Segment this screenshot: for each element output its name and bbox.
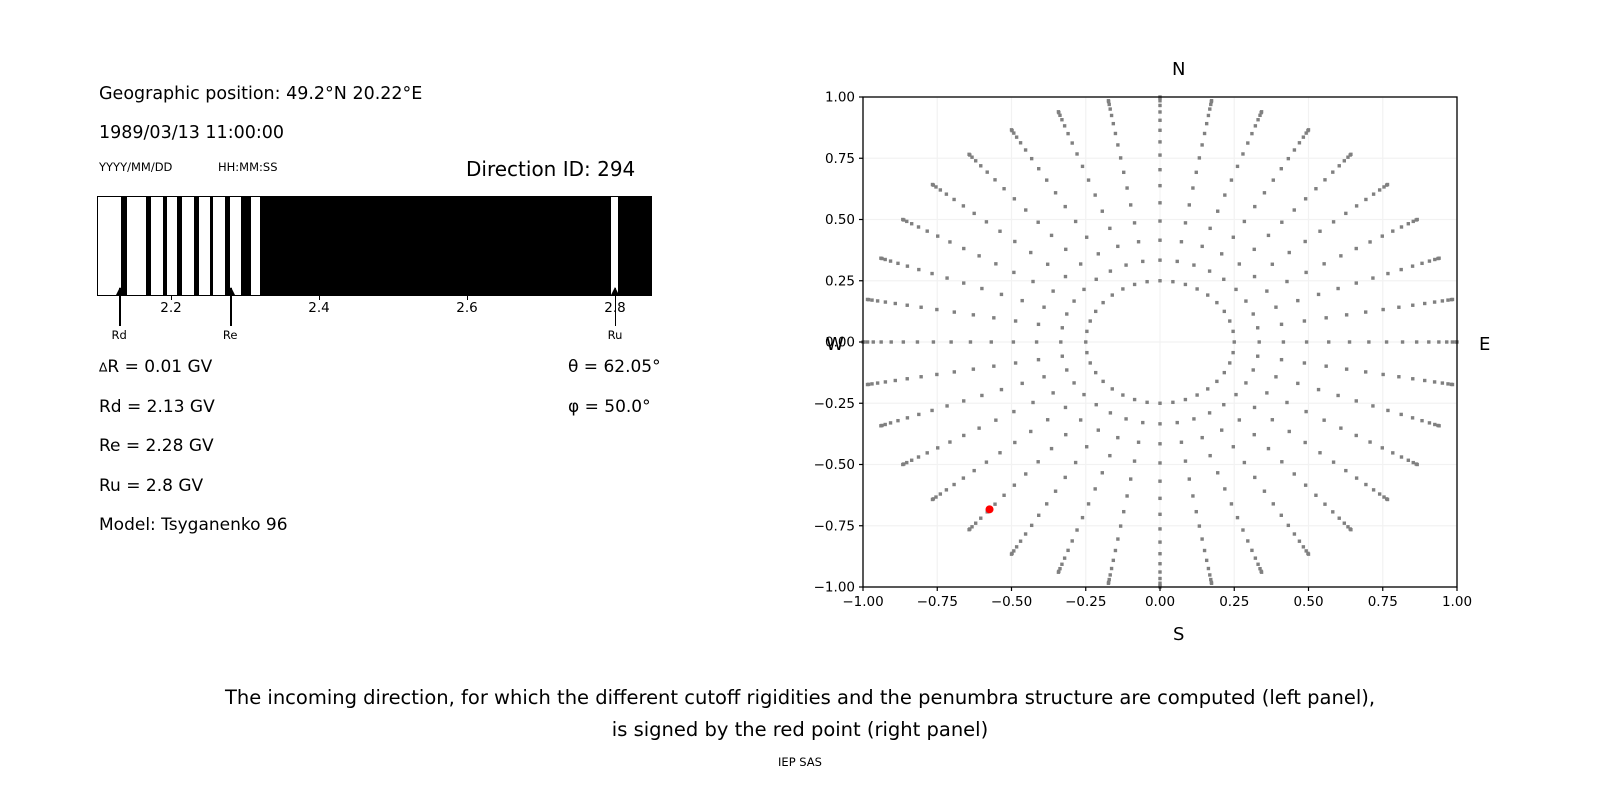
scatter-point <box>1267 447 1270 450</box>
geographic-position-text: Geographic position: 49.2°N 20.22°E <box>99 84 422 104</box>
scatter-point <box>1372 488 1375 491</box>
scatter-point <box>1158 119 1161 122</box>
scatter-point <box>879 424 882 427</box>
scatter-point <box>1158 552 1161 555</box>
scatter-point <box>1265 391 1268 394</box>
scatter-point <box>1253 275 1256 278</box>
scatter-point <box>1101 210 1104 213</box>
scatter-point <box>1416 218 1419 221</box>
y-tick-label: 0.50 <box>825 212 855 228</box>
scatter-point <box>935 373 938 376</box>
scatter-point <box>1065 368 1068 371</box>
scatter-point <box>979 164 982 167</box>
scatter-point <box>1111 293 1114 296</box>
scatter-point <box>1057 571 1060 574</box>
scatter-point <box>1158 540 1161 543</box>
scatter-point <box>1241 152 1244 155</box>
scatter-point <box>1037 514 1040 517</box>
scatter-point <box>1323 178 1326 181</box>
scatter-point <box>1036 221 1039 224</box>
scatter-point <box>1158 201 1161 204</box>
scatter-point <box>1250 132 1253 135</box>
scatter-point <box>1331 170 1334 173</box>
scatter-point <box>1303 240 1306 243</box>
scatter-point <box>1082 393 1085 396</box>
scatter-point <box>1241 528 1244 531</box>
scatter-point <box>1232 445 1235 448</box>
scatter-point <box>1021 382 1024 385</box>
figure-caption: The incoming direction, for which the di… <box>0 682 1600 746</box>
scatter-point <box>1344 212 1347 215</box>
scatter-point <box>1158 442 1161 445</box>
scatter-point <box>998 451 1001 454</box>
scatter-point <box>1208 454 1211 457</box>
scatter-point <box>1371 404 1374 407</box>
scatter-point <box>1158 110 1161 113</box>
scatter-point <box>1428 259 1431 262</box>
scatter-point <box>917 455 920 458</box>
scatter-point <box>894 302 897 305</box>
scatter-point <box>1451 298 1454 301</box>
scatter-point <box>1274 375 1277 378</box>
scatter-point <box>1367 340 1370 343</box>
scatter-point <box>1420 262 1423 265</box>
scatter-point <box>1230 502 1233 505</box>
scatter-point <box>990 340 993 343</box>
scatter-point <box>1433 258 1436 261</box>
scatter-point <box>931 498 934 501</box>
scatter-point <box>1287 157 1290 160</box>
scatter-point <box>1108 227 1111 230</box>
scatter-point <box>1195 510 1198 513</box>
caption-line-2: is signed by the red point (right panel) <box>0 714 1600 746</box>
scatter-point <box>1345 313 1348 316</box>
scatter-point <box>1158 527 1161 530</box>
scatter-point <box>1258 340 1261 343</box>
scatter-point <box>1094 371 1097 374</box>
scatter-point <box>1336 394 1339 397</box>
scatter-point <box>992 364 995 367</box>
scatter-point <box>1188 203 1191 206</box>
scatter-point <box>972 469 975 472</box>
scatter-point <box>1371 276 1374 279</box>
x-tick-label: 0.75 <box>1368 594 1398 610</box>
scatter-point <box>1215 380 1218 383</box>
scatter-point <box>1272 178 1275 181</box>
scatter-point <box>1385 340 1388 343</box>
scatter-point <box>906 264 909 267</box>
scatter-point <box>1192 417 1195 420</box>
direction-label-south: S <box>1173 624 1184 645</box>
scatter-point <box>1256 563 1259 566</box>
scatter-point <box>1097 252 1100 255</box>
scatter-point <box>1057 110 1060 113</box>
scatter-point <box>1111 387 1114 390</box>
scatter-point <box>876 381 879 384</box>
scatter-point <box>936 446 939 449</box>
scatter-point <box>1125 186 1128 189</box>
scatter-point <box>916 340 919 343</box>
scatter-point <box>962 399 965 402</box>
scatter-point <box>952 198 955 201</box>
scatter-point <box>879 257 882 260</box>
scatter-point <box>1158 153 1161 156</box>
scatter-point <box>1059 340 1062 343</box>
scatter-point <box>998 230 1001 233</box>
scatter-point <box>939 492 942 495</box>
scatter-point <box>1205 559 1208 562</box>
scatter-point <box>1223 193 1226 196</box>
scatter-point <box>1400 455 1403 458</box>
scatter-point <box>972 313 975 316</box>
scatter-point <box>945 276 948 279</box>
scatter-point <box>1298 141 1301 144</box>
scatter-point <box>1195 287 1198 290</box>
scatter-point <box>1112 559 1115 562</box>
scatter-point <box>1061 326 1064 329</box>
scatter-point <box>1030 157 1033 160</box>
scatter-point <box>1391 229 1394 232</box>
scatter-point <box>1015 545 1018 548</box>
scatter-point <box>1339 426 1342 429</box>
scatter-point <box>1158 577 1161 580</box>
y-tick-label: 1.00 <box>825 90 855 106</box>
scatter-point <box>1332 220 1335 223</box>
scatter-point <box>1158 513 1161 516</box>
scatter-point <box>1280 167 1283 170</box>
scatter-point <box>1119 524 1122 527</box>
scatter-point <box>1223 371 1226 374</box>
scatter-point <box>967 153 970 156</box>
scatter-point <box>1378 492 1381 495</box>
scatter-point <box>1280 221 1283 224</box>
scatter-point <box>1207 567 1210 570</box>
scatter-point <box>1029 251 1032 254</box>
scatter-point <box>1158 279 1161 282</box>
scatter-point <box>1060 563 1063 566</box>
scatter-point <box>1230 178 1233 181</box>
scatter-point <box>1066 132 1069 135</box>
scatter-point <box>979 517 982 520</box>
scatter-point <box>1303 441 1306 444</box>
scatter-point <box>1427 340 1430 343</box>
scatter-point <box>917 413 920 416</box>
footer-credit: IEP SAS <box>0 755 1600 769</box>
scatter-point <box>1303 319 1306 322</box>
scatter-point <box>1282 340 1285 343</box>
scatter-point <box>889 421 892 424</box>
scatter-point <box>1428 421 1431 424</box>
scatter-point <box>1345 367 1348 370</box>
scatter-point <box>1246 141 1249 144</box>
scatter-point <box>1171 401 1174 404</box>
scatter-point <box>1263 490 1266 493</box>
direction-label-east: E <box>1479 334 1490 355</box>
scatter-point <box>1191 186 1194 189</box>
scatter-point <box>1386 498 1389 501</box>
scatter-point <box>1075 152 1078 155</box>
scatter-point <box>1145 280 1148 283</box>
scatter-point <box>985 460 988 463</box>
scatter-point <box>952 483 955 486</box>
penumbra-forbidden-band <box>177 197 182 295</box>
scatter-point <box>1401 340 1404 343</box>
scatter-point <box>890 340 893 343</box>
scatter-point <box>1158 479 1161 482</box>
scatter-point <box>901 463 904 466</box>
scatter-point <box>1116 436 1119 439</box>
x-tick-label: −0.50 <box>991 594 1032 610</box>
scatter-point <box>1231 330 1234 333</box>
scatter-point <box>1216 210 1219 213</box>
scatter-point <box>1014 319 1017 322</box>
scatter-point <box>1184 459 1187 462</box>
scatter-point <box>1234 288 1237 291</box>
scatter-point <box>1272 502 1275 505</box>
scatter-point <box>1244 299 1247 302</box>
scatter-point <box>1446 298 1449 301</box>
scatter-point <box>1355 281 1358 284</box>
scatter-point <box>1054 490 1057 493</box>
time-format-hint: HH:MM:SS <box>218 160 278 174</box>
scatter-point <box>1188 477 1191 480</box>
scatter-point <box>986 170 989 173</box>
scatter-point <box>1024 208 1027 211</box>
penumbra-x-axis: 2.22.42.62.8RdReRu <box>97 296 652 356</box>
scatter-point <box>1176 260 1179 263</box>
scatter-point <box>1109 269 1112 272</box>
scatter-point <box>977 426 980 429</box>
scatter-point <box>1433 380 1436 383</box>
scatter-point <box>1158 219 1161 222</box>
scatter-point <box>1089 361 1092 364</box>
scatter-point <box>901 218 904 221</box>
scatter-point <box>1037 323 1040 326</box>
scatter-point <box>1013 441 1016 444</box>
scatter-point <box>972 212 975 215</box>
scatter-point <box>870 382 873 385</box>
penumbra-forbidden-band <box>163 197 167 295</box>
scatter-point <box>1206 293 1209 296</box>
scatter-point <box>1066 549 1069 552</box>
scatter-point <box>1036 460 1039 463</box>
scatter-point <box>980 394 983 397</box>
scatter-point <box>866 298 869 301</box>
stat-row-right-1: φ = 50.0° <box>568 396 661 436</box>
scatter-point <box>962 434 965 437</box>
scatter-point <box>1000 388 1003 391</box>
scatter-point <box>993 502 996 505</box>
scatter-point <box>1322 262 1325 265</box>
scatter-point <box>894 379 897 382</box>
scatter-point <box>1064 248 1067 251</box>
scatter-point <box>1215 301 1218 304</box>
scatter-point <box>1305 340 1308 343</box>
scatter-point <box>1451 340 1454 343</box>
scatter-point <box>977 254 980 257</box>
scatter-point <box>1082 288 1085 291</box>
scatter-point <box>1205 122 1208 125</box>
scatter-point <box>994 418 997 421</box>
scatter-point <box>1324 316 1327 319</box>
scatter-point <box>1085 445 1088 448</box>
scatter-point <box>1064 476 1067 479</box>
scatter-point <box>1322 418 1325 421</box>
scatter-point <box>1071 539 1074 542</box>
arrow-up-icon <box>227 287 235 295</box>
y-tick-label: −0.25 <box>814 396 855 412</box>
scatter-point <box>1122 171 1125 174</box>
scatter-point <box>936 234 939 237</box>
scatter-point <box>1129 477 1132 480</box>
scatter-point <box>919 375 922 378</box>
scatter-point <box>1271 263 1274 266</box>
scatter-point <box>1063 124 1066 127</box>
scatter-point <box>884 258 887 261</box>
scatter-point <box>1437 340 1440 343</box>
stat-row-right-0: θ = 62.05° <box>568 356 661 396</box>
scatter-point <box>1031 401 1034 404</box>
scatter-point <box>939 188 942 191</box>
scatter-point <box>1220 428 1223 431</box>
scatter-point <box>930 272 933 275</box>
scatter-point <box>1243 461 1246 464</box>
scatter-point <box>1180 240 1183 243</box>
scatter-point <box>1271 418 1274 421</box>
scatter-point <box>974 522 977 525</box>
scatter-point <box>1116 537 1119 540</box>
scatter-point <box>1093 487 1096 490</box>
scatter-point <box>1158 239 1161 242</box>
penumbra-tick-label: 2.6 <box>456 300 477 316</box>
scatter-point <box>974 159 977 162</box>
scatter-point <box>1081 516 1084 519</box>
scatter-point <box>1013 197 1016 200</box>
scatter-point <box>1338 164 1341 167</box>
scatter-point <box>1234 393 1237 396</box>
scatter-point <box>1012 271 1015 274</box>
scatter-point <box>1064 205 1067 208</box>
scatter-point <box>926 451 929 454</box>
scatter-point <box>1338 517 1341 520</box>
scatter-point <box>896 262 899 265</box>
scatter-point <box>945 192 948 195</box>
penumbra-marker-label: Ru <box>608 328 623 342</box>
scatter-point <box>1141 421 1144 424</box>
scatter-point <box>1265 289 1268 292</box>
scatter-point <box>1195 393 1198 396</box>
scatter-point <box>884 423 887 426</box>
scatter-point <box>1208 411 1211 414</box>
scatter-point <box>1024 148 1027 151</box>
scatter-point <box>1433 300 1436 303</box>
scatter-point <box>1207 114 1210 117</box>
scatter-point <box>910 459 913 462</box>
scatter-point <box>1116 143 1119 146</box>
scatter-point <box>1397 375 1400 378</box>
highlight-point[interactable] <box>986 505 994 513</box>
scatter-point <box>1302 135 1305 138</box>
scatter-point <box>1355 476 1358 479</box>
scatter-point <box>1238 262 1241 265</box>
scatter-point <box>1307 552 1310 555</box>
scatter-point <box>1243 220 1246 223</box>
scatter-point <box>1252 312 1255 315</box>
scatter-point <box>870 298 873 301</box>
scatter-point <box>1063 556 1066 559</box>
scatter-point <box>917 268 920 271</box>
scatter-point <box>902 340 905 343</box>
scatter-point <box>1397 306 1400 309</box>
penumbra-forbidden-band <box>194 197 199 295</box>
scatter-point <box>1355 204 1358 207</box>
scatter-point <box>967 528 970 531</box>
scatter-point <box>985 220 988 223</box>
scatter-point <box>1446 382 1449 385</box>
scatter-point <box>1411 304 1414 307</box>
scatter-point <box>1158 570 1161 573</box>
stats-left-column: ∆R = 0.01 GVRd = 2.13 GVRe = 2.28 GVRu =… <box>99 356 288 554</box>
scatter-point <box>1233 340 1236 343</box>
scatter-point <box>993 178 996 181</box>
scatter-point <box>919 306 922 309</box>
scatter-point <box>1287 524 1290 527</box>
caption-line-1: The incoming direction, for which the di… <box>0 682 1600 714</box>
scatter-point <box>906 416 909 419</box>
penumbra-forbidden-band <box>260 197 612 295</box>
scatter-point <box>1296 382 1299 385</box>
scatter-point <box>1206 387 1209 390</box>
scatter-point <box>1336 287 1339 290</box>
scatter-point <box>1137 441 1140 444</box>
scatter-point <box>1253 205 1256 208</box>
scatter-point <box>1381 308 1384 311</box>
scatter-point <box>1114 132 1117 135</box>
penumbra-bar <box>97 196 652 296</box>
scatter-point <box>1054 191 1057 194</box>
y-tick-label: 0.25 <box>825 273 855 289</box>
scatter-point <box>1331 510 1334 513</box>
scatter-point <box>1198 524 1201 527</box>
scatter-point <box>1124 417 1127 420</box>
scatter-point <box>1171 280 1174 283</box>
scatter-point <box>1145 401 1148 404</box>
scatter-point <box>1087 178 1090 181</box>
scatter-point <box>1349 528 1352 531</box>
penumbra-forbidden-band <box>210 197 214 295</box>
scatter-point <box>1200 143 1203 146</box>
scatter-point <box>1260 571 1263 574</box>
scatter-point <box>1378 188 1381 191</box>
scatter-point <box>1381 373 1384 376</box>
scatter-point <box>1081 165 1084 168</box>
scatter-point <box>1107 99 1110 102</box>
scatter-point <box>1089 319 1092 322</box>
scatter-point <box>1074 220 1077 223</box>
scatter-point <box>1133 283 1136 286</box>
scatter-point <box>1158 562 1161 565</box>
scatter-point <box>1304 410 1307 413</box>
penumbra-tick-label: 2.4 <box>308 300 329 316</box>
scatter-point <box>1019 540 1022 543</box>
scatter-point <box>1303 361 1306 364</box>
scatter-point <box>962 476 965 479</box>
scatter-point <box>1256 118 1259 121</box>
scatter-point <box>1451 383 1454 386</box>
scatter-point <box>1124 263 1127 266</box>
scatter-point <box>1158 402 1161 405</box>
scatter-point <box>1399 268 1402 271</box>
